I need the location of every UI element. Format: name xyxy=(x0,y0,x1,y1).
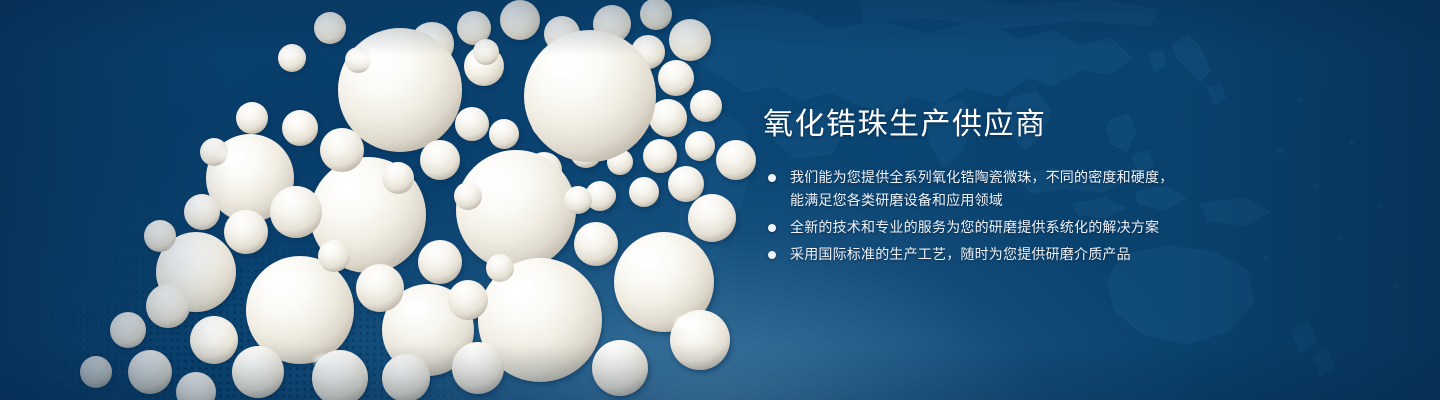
list-item: 采用国际标准的生产工艺，随时为您提供研磨介质产品 xyxy=(763,243,1233,266)
list-item-line: 全新的技术和专业的服务为您的研磨提供系统化的解决方案 xyxy=(790,216,1233,239)
list-item: 全新的技术和专业的服务为您的研磨提供系统化的解决方案 xyxy=(763,216,1233,239)
list-item: 我们能为您提供全系列氧化锆陶瓷微珠，不同的密度和硬度， 能满足您各类研磨设备和应… xyxy=(763,166,1233,212)
list-item-line: 我们能为您提供全系列氧化锆陶瓷微珠，不同的密度和硬度， xyxy=(790,166,1233,189)
banner-text-block: 氧化锆珠生产供应商 我们能为您提供全系列氧化锆陶瓷微珠，不同的密度和硬度， 能满… xyxy=(763,106,1233,266)
list-item-line: 能满足您各类研磨设备和应用领域 xyxy=(790,189,1233,212)
dot-bullet-icon xyxy=(768,224,776,232)
list-item-line: 采用国际标准的生产工艺，随时为您提供研磨介质产品 xyxy=(790,243,1233,266)
benefit-list: 我们能为您提供全系列氧化锆陶瓷微珠，不同的密度和硬度， 能满足您各类研磨设备和应… xyxy=(763,166,1233,266)
hero-banner: 氧化锆珠生产供应商 我们能为您提供全系列氧化锆陶瓷微珠，不同的密度和硬度， 能满… xyxy=(0,0,1440,400)
banner-headline: 氧化锆珠生产供应商 xyxy=(763,106,1233,144)
dot-bullet-icon xyxy=(768,174,776,182)
dot-bullet-icon xyxy=(768,251,776,259)
